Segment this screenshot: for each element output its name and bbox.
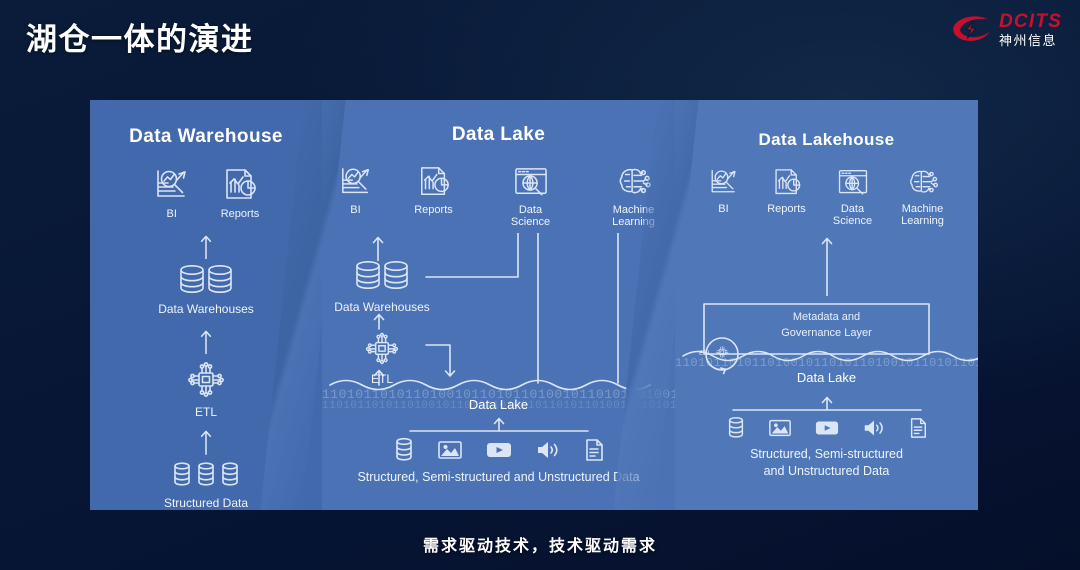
document-icon: [908, 416, 928, 440]
source-bus-line: [675, 396, 978, 414]
consumer-reports-p3: Reports: [761, 168, 813, 215]
consumers-row-p3: BI Reports: [675, 168, 978, 228]
governance-box-label: Metadata and Governance Layer: [675, 310, 978, 342]
sources-region-p3: Structured, Semi-structured and Unstruct…: [675, 396, 978, 480]
machine-learning-brain-icon: [907, 168, 939, 197]
database-triple-icon: [171, 461, 241, 489]
panel-title-data-warehouse: Data Warehouse: [129, 126, 283, 148]
consumer-label: Data Science: [833, 203, 872, 228]
consumer-bi-p1: BI: [153, 168, 191, 220]
audio-icon: [535, 437, 561, 463]
source-bus-line: [322, 417, 675, 435]
sources-label-p2: Structured, Semi-structured and Unstruct…: [322, 470, 675, 484]
consumer-label: Machine Learning: [612, 204, 655, 229]
source-icons-row-p3: [675, 416, 978, 440]
data-science-globe-icon: [837, 168, 869, 197]
sources-label-line-1: Structured, Semi-structured: [675, 446, 978, 463]
consumer-label: Machine Learning: [901, 203, 944, 228]
logo-english-text: DCITS: [999, 12, 1062, 31]
arrow-up-icon: [200, 234, 212, 259]
video-icon: [814, 416, 840, 440]
bi-chart-magnifier-icon: [153, 168, 191, 202]
panel-data-warehouse: Data Warehouse BI: [90, 100, 322, 510]
consumers-row-p2: BI Reports: [322, 166, 675, 229]
sources-region-p2: Structured, Semi-structured and Unstruct…: [322, 417, 675, 484]
sources-label-p3: Structured, Semi-structured and Unstruct…: [675, 446, 978, 480]
bi-chart-magnifier-icon: [708, 168, 740, 197]
reports-document-chart-icon: [416, 166, 452, 198]
consumer-label: Reports: [767, 203, 806, 215]
bottom-caption: 需求驱动技术，技术驱动需求: [0, 532, 1080, 556]
etl-chip-icon: [362, 329, 402, 367]
consumer-label: BI: [718, 203, 728, 215]
sources-label-line-2: and Unstructured Data: [675, 463, 978, 480]
source-icons-row-p2: [322, 437, 675, 463]
consumer-reports-p1: Reports: [221, 168, 260, 220]
lake-label-p3: Data Lake: [675, 370, 978, 385]
arrow-up-icon: [200, 329, 212, 354]
panel-data-lakehouse: Data Lakehouse BI: [675, 100, 978, 510]
binary-strip-top-p3: 1101011010110100101101011010010110101101…: [675, 356, 978, 370]
governance-line-1: Metadata and: [675, 310, 978, 326]
etl-chip-icon: [184, 358, 228, 400]
consumer-data-science-p3: Data Science: [827, 168, 879, 228]
brand-logo: DCITS 神州信息: [950, 12, 1062, 47]
sources-label: Structured Data: [164, 497, 248, 510]
consumer-bi-p3: BI: [701, 168, 747, 215]
bi-chart-magnifier-icon: [338, 166, 374, 198]
audio-icon: [862, 416, 886, 440]
swoosh-logo-icon: [950, 13, 992, 47]
governance-line-2: Governance Layer: [675, 326, 978, 342]
consumer-data-science-p2: Data Science: [502, 166, 560, 229]
document-icon: [583, 437, 605, 463]
consumer-label: Reports: [221, 208, 260, 220]
sources-structured-data-p1: Structured Data: [164, 461, 248, 510]
storage-data-warehouses-p1: Data Warehouses: [158, 263, 254, 316]
image-icon: [437, 437, 463, 463]
database-icon: [393, 437, 415, 463]
process-label: ETL: [195, 406, 217, 419]
lakehouse-evolution-diagram: Data Warehouse BI: [90, 100, 978, 510]
consumer-label: Data Science: [511, 204, 550, 229]
database-stack-icon: [177, 263, 235, 297]
reports-document-chart-icon: [771, 168, 803, 197]
arrow-up-icon: [821, 236, 833, 296]
database-icon: [726, 416, 746, 440]
consumer-reports-p2: Reports: [406, 166, 462, 216]
arrow-up-icon: [200, 429, 212, 454]
consumer-label: BI: [167, 208, 177, 220]
page-title: 湖仓一体的演进: [26, 14, 254, 59]
consumers-row-p1: BI Reports: [90, 168, 322, 220]
image-icon: [768, 416, 792, 440]
machine-learning-brain-icon: [616, 166, 652, 198]
lakehouse-core: Metadata and Governance Layer ETL 110101…: [675, 298, 978, 394]
process-etl-p1: ETL: [184, 358, 228, 419]
data-lake-flow-region: Data Warehouses: [322, 233, 675, 413]
consumer-label: BI: [350, 204, 360, 216]
lake-label-p2: Data Lake: [322, 397, 675, 412]
panel-title-data-lake: Data Lake: [452, 124, 545, 146]
data-lake-wave: 1101011010110100101101011010010110101101…: [322, 375, 675, 419]
storage-label: Data Warehouses: [158, 303, 254, 316]
consumer-bi-p2: BI: [332, 166, 380, 216]
reports-document-chart-icon: [221, 168, 259, 202]
video-icon: [485, 437, 513, 463]
consumer-machine-learning-p3: Machine Learning: [893, 168, 953, 228]
logo-chinese-text: 神州信息: [999, 34, 1062, 47]
panel-title-data-lakehouse: Data Lakehouse: [759, 130, 895, 150]
consumer-label: Reports: [414, 204, 453, 216]
panel-data-lake: Data Lake BI: [322, 100, 675, 510]
data-science-globe-icon: [513, 166, 549, 198]
consumer-machine-learning-p2: Machine Learning: [602, 166, 666, 229]
